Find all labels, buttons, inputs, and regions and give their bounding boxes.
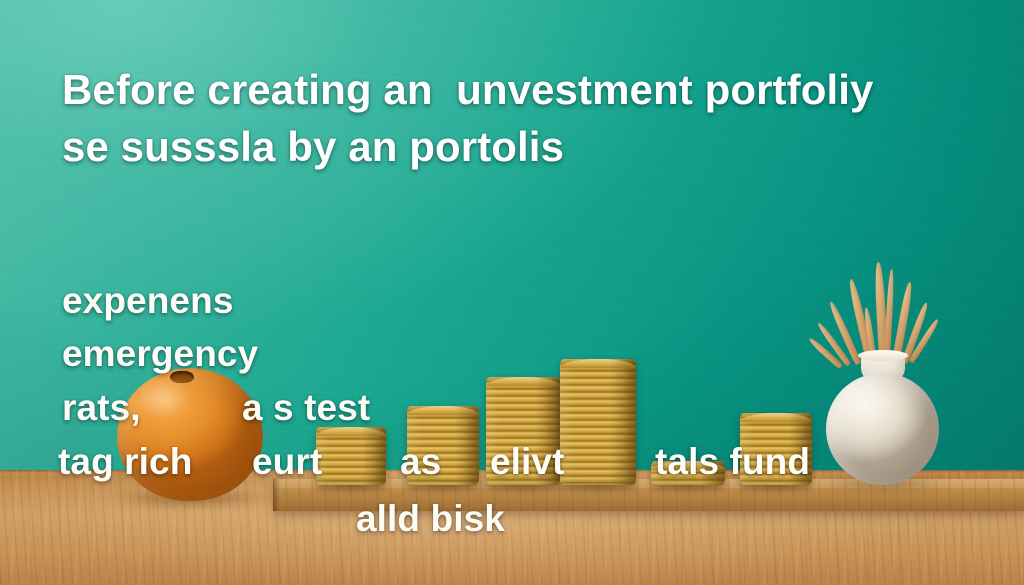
body-line-tals-fund: tals fund — [655, 440, 810, 484]
body-line-a-s-test: a s test — [242, 386, 370, 430]
body-line-alld-bisk: alld bisk — [356, 497, 505, 541]
vase-lip — [858, 350, 908, 361]
body-line-eurt: eurt — [252, 440, 322, 484]
body-line-as: as — [400, 440, 441, 484]
coin-stack — [560, 359, 636, 485]
coin-stack — [316, 427, 386, 485]
body-line-rats: rats, — [62, 386, 141, 430]
coin-stack-shading — [362, 427, 386, 485]
headline-line-1: Before creating an unvestment portfoliy — [62, 64, 873, 116]
coin-stack-shading — [610, 359, 636, 485]
body-line-emergency: emergency — [62, 332, 258, 376]
piggy-bank-highlight — [135, 380, 191, 418]
coin-stack-shading — [455, 406, 479, 485]
headline-line-2: se susssla by an portolis — [62, 121, 564, 173]
ceramic-vase — [826, 373, 939, 485]
body-line-expenens: expenens — [62, 279, 234, 323]
body-line-tag-rich: tag rich — [58, 440, 192, 484]
poster-scene: Before creating an unvestment portfoliy … — [0, 0, 1024, 585]
body-line-elivt: elivt — [490, 440, 565, 484]
